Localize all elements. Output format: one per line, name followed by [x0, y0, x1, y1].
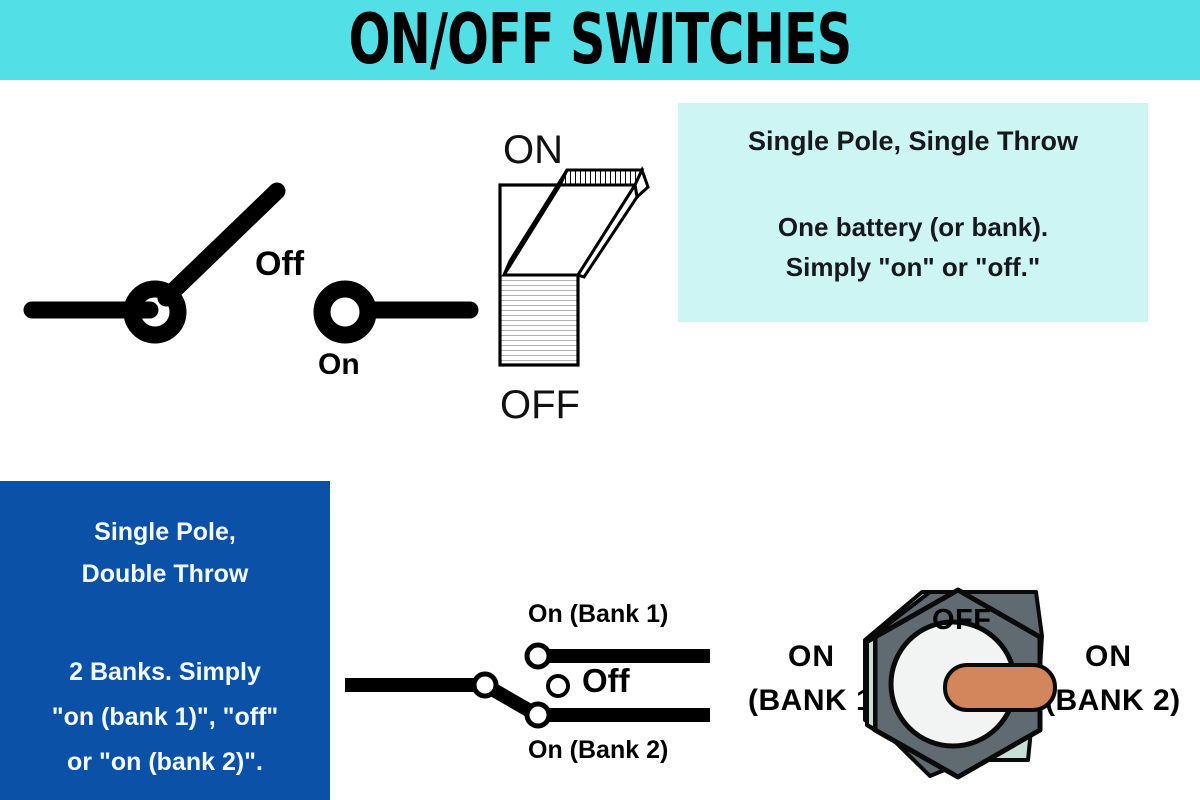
spdt-info-title-line-2: Double Throw	[82, 553, 249, 595]
header-banner: ON/OFF SWITCHES	[0, 0, 1200, 80]
spdt-info-body: 2 Banks. Simply "on (bank 1)", "off" or …	[52, 650, 279, 785]
spst-info-panel: Single Pole, Single Throw One battery (o…	[678, 103, 1148, 322]
toggle-switch-figure[interactable]: ON OFF	[480, 115, 660, 435]
rotary-handle	[945, 665, 1055, 710]
page-title: ON/OFF SWITCHES	[108, 0, 1092, 86]
spdt-off-label: Off	[582, 664, 630, 697]
rotary-switch-figure[interactable]: ON (BANK 1) ON (BANK 2) OFF	[740, 580, 1200, 800]
spst-schematic-svg	[0, 110, 500, 360]
rotary-bevel-highlight	[867, 637, 875, 730]
spdt-off-terminal	[548, 676, 568, 696]
spst-info-body-line-1: One battery (or bank).	[778, 207, 1048, 247]
spst-schematic: Off On	[0, 110, 500, 360]
spdt-info-title: Single Pole, Double Throw	[82, 511, 249, 595]
toggle-plate-shadow	[501, 275, 577, 364]
spdt-info-body-line-1: 2 Banks. Simply	[52, 650, 279, 695]
spst-info-title: Single Pole, Single Throw	[748, 123, 1078, 159]
spst-info-body: One battery (or bank). Simply "on" or "o…	[778, 207, 1048, 287]
spdt-pivot-terminal	[474, 674, 496, 696]
spst-info-body-line-2: Simply "on" or "off."	[778, 247, 1048, 287]
spdt-schematic: On (Bank 1) Off On (Bank 2)	[330, 590, 730, 780]
spdt-info-body-line-3: or "on (bank 2)".	[52, 740, 279, 785]
toggle-lever-top-edge	[560, 170, 642, 185]
spst-off-label: Off	[255, 247, 304, 281]
spdt-info-panel: Single Pole, Double Throw 2 Banks. Simpl…	[0, 481, 330, 800]
spdt-bank2-terminal	[527, 704, 549, 726]
spdt-info-body-line-2: "on (bank 1)", "off"	[52, 695, 279, 740]
spdt-bank1-terminal	[527, 645, 549, 667]
rotary-off-label: OFF	[932, 606, 992, 635]
spdt-bank2-label: On (Bank 2)	[528, 738, 668, 763]
toggle-off-label: OFF	[500, 385, 580, 425]
spdt-info-title-line-1: Single Pole,	[82, 511, 249, 553]
spst-on-label: On	[318, 350, 360, 380]
